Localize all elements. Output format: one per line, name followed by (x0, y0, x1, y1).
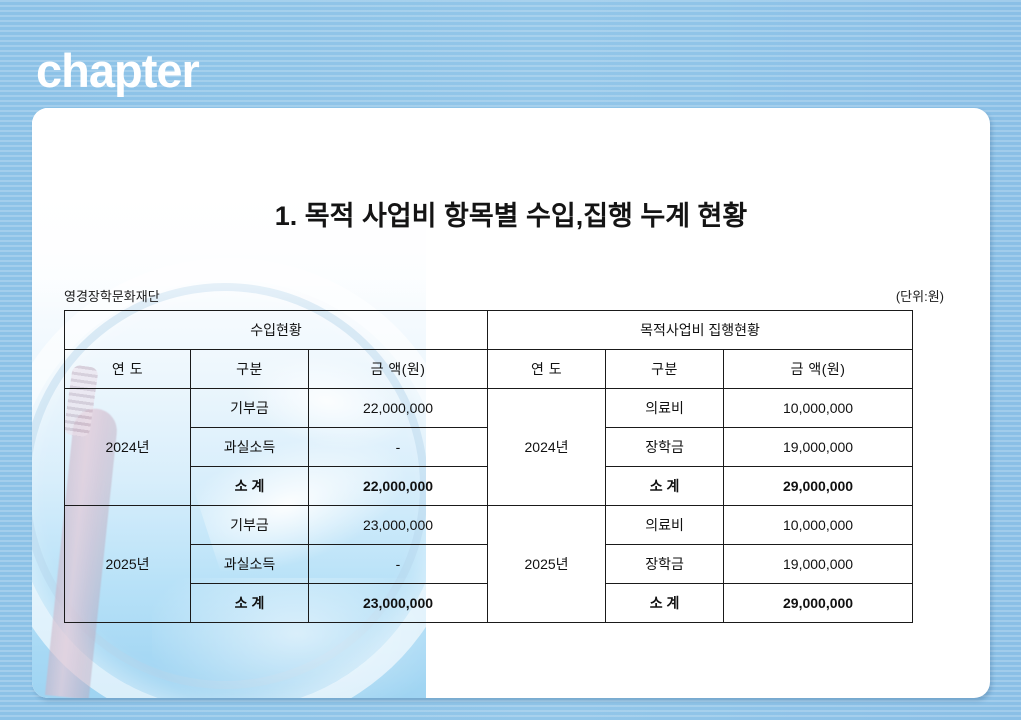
income-subtotal-label-2025: 소 계 (191, 584, 309, 623)
spending-subtotal-label-2024: 소 계 (606, 467, 724, 506)
spending-kind-2025-medical: 의료비 (606, 506, 724, 545)
col-header-income-amount: 금 액(원) (309, 350, 488, 389)
income-amount-2024-donation: 22,000,000 (309, 389, 488, 428)
spending-subtotal-amount-2024: 29,000,000 (724, 467, 913, 506)
unit-note: (단위:원) (896, 286, 944, 305)
financial-table-wrapper: 수입현황 목적사업비 집행현황 연 도 구분 금 액(원) 연 도 구분 금 액… (64, 310, 912, 623)
table-row: 2025년 기부금 23,000,000 2025년 의료비 10,000,00… (65, 506, 913, 545)
table-column-header-row: 연 도 구분 금 액(원) 연 도 구분 금 액(원) (65, 350, 913, 389)
col-header-spending-amount: 금 액(원) (724, 350, 913, 389)
col-header-spending-kind: 구분 (606, 350, 724, 389)
spending-amount-2024-medical: 10,000,000 (724, 389, 913, 428)
col-header-income-kind: 구분 (191, 350, 309, 389)
income-amount-2025-interest: - (309, 545, 488, 584)
page-title: 1. 목적 사업비 항목별 수입,집행 누계 현황 (32, 194, 990, 233)
income-kind-2025-donation: 기부금 (191, 506, 309, 545)
spending-year-2025: 2025년 (488, 506, 606, 623)
group-header-spending: 목적사업비 집행현황 (488, 311, 913, 350)
spending-kind-2024-scholarship: 장학금 (606, 428, 724, 467)
table-caption-row: 영경장학문화재단 (단위:원) (64, 286, 944, 305)
income-amount-2024-interest: - (309, 428, 488, 467)
income-kind-2025-interest: 과실소득 (191, 545, 309, 584)
col-header-income-year: 연 도 (65, 350, 191, 389)
spending-amount-2024-scholarship: 19,000,000 (724, 428, 913, 467)
col-header-spending-year: 연 도 (488, 350, 606, 389)
table-group-header-row: 수입현황 목적사업비 집행현황 (65, 311, 913, 350)
financial-summary-table: 수입현황 목적사업비 집행현황 연 도 구분 금 액(원) 연 도 구분 금 액… (64, 310, 913, 623)
income-year-2025: 2025년 (65, 506, 191, 623)
income-subtotal-amount-2024: 22,000,000 (309, 467, 488, 506)
income-subtotal-label-2024: 소 계 (191, 467, 309, 506)
spending-subtotal-label-2025: 소 계 (606, 584, 724, 623)
organization-name: 영경장학문화재단 (64, 286, 160, 305)
chapter-label: chapter (36, 47, 199, 94)
income-amount-2025-donation: 23,000,000 (309, 506, 488, 545)
group-header-income: 수입현황 (65, 311, 488, 350)
spending-amount-2025-medical: 10,000,000 (724, 506, 913, 545)
spending-amount-2025-scholarship: 19,000,000 (724, 545, 913, 584)
spending-kind-2024-medical: 의료비 (606, 389, 724, 428)
income-kind-2024-donation: 기부금 (191, 389, 309, 428)
spending-subtotal-amount-2025: 29,000,000 (724, 584, 913, 623)
income-subtotal-amount-2025: 23,000,000 (309, 584, 488, 623)
spending-year-2024: 2024년 (488, 389, 606, 506)
content-card: 1. 목적 사업비 항목별 수입,집행 누계 현황 영경장학문화재단 (단위:원… (32, 108, 990, 698)
spending-kind-2025-scholarship: 장학금 (606, 545, 724, 584)
income-year-2024: 2024년 (65, 389, 191, 506)
income-kind-2024-interest: 과실소득 (191, 428, 309, 467)
slide-canvas: chapter 1. 목적 사업비 항목별 수입,집행 누계 현황 영경장학문화… (0, 0, 1021, 720)
table-row: 2024년 기부금 22,000,000 2024년 의료비 10,000,00… (65, 389, 913, 428)
